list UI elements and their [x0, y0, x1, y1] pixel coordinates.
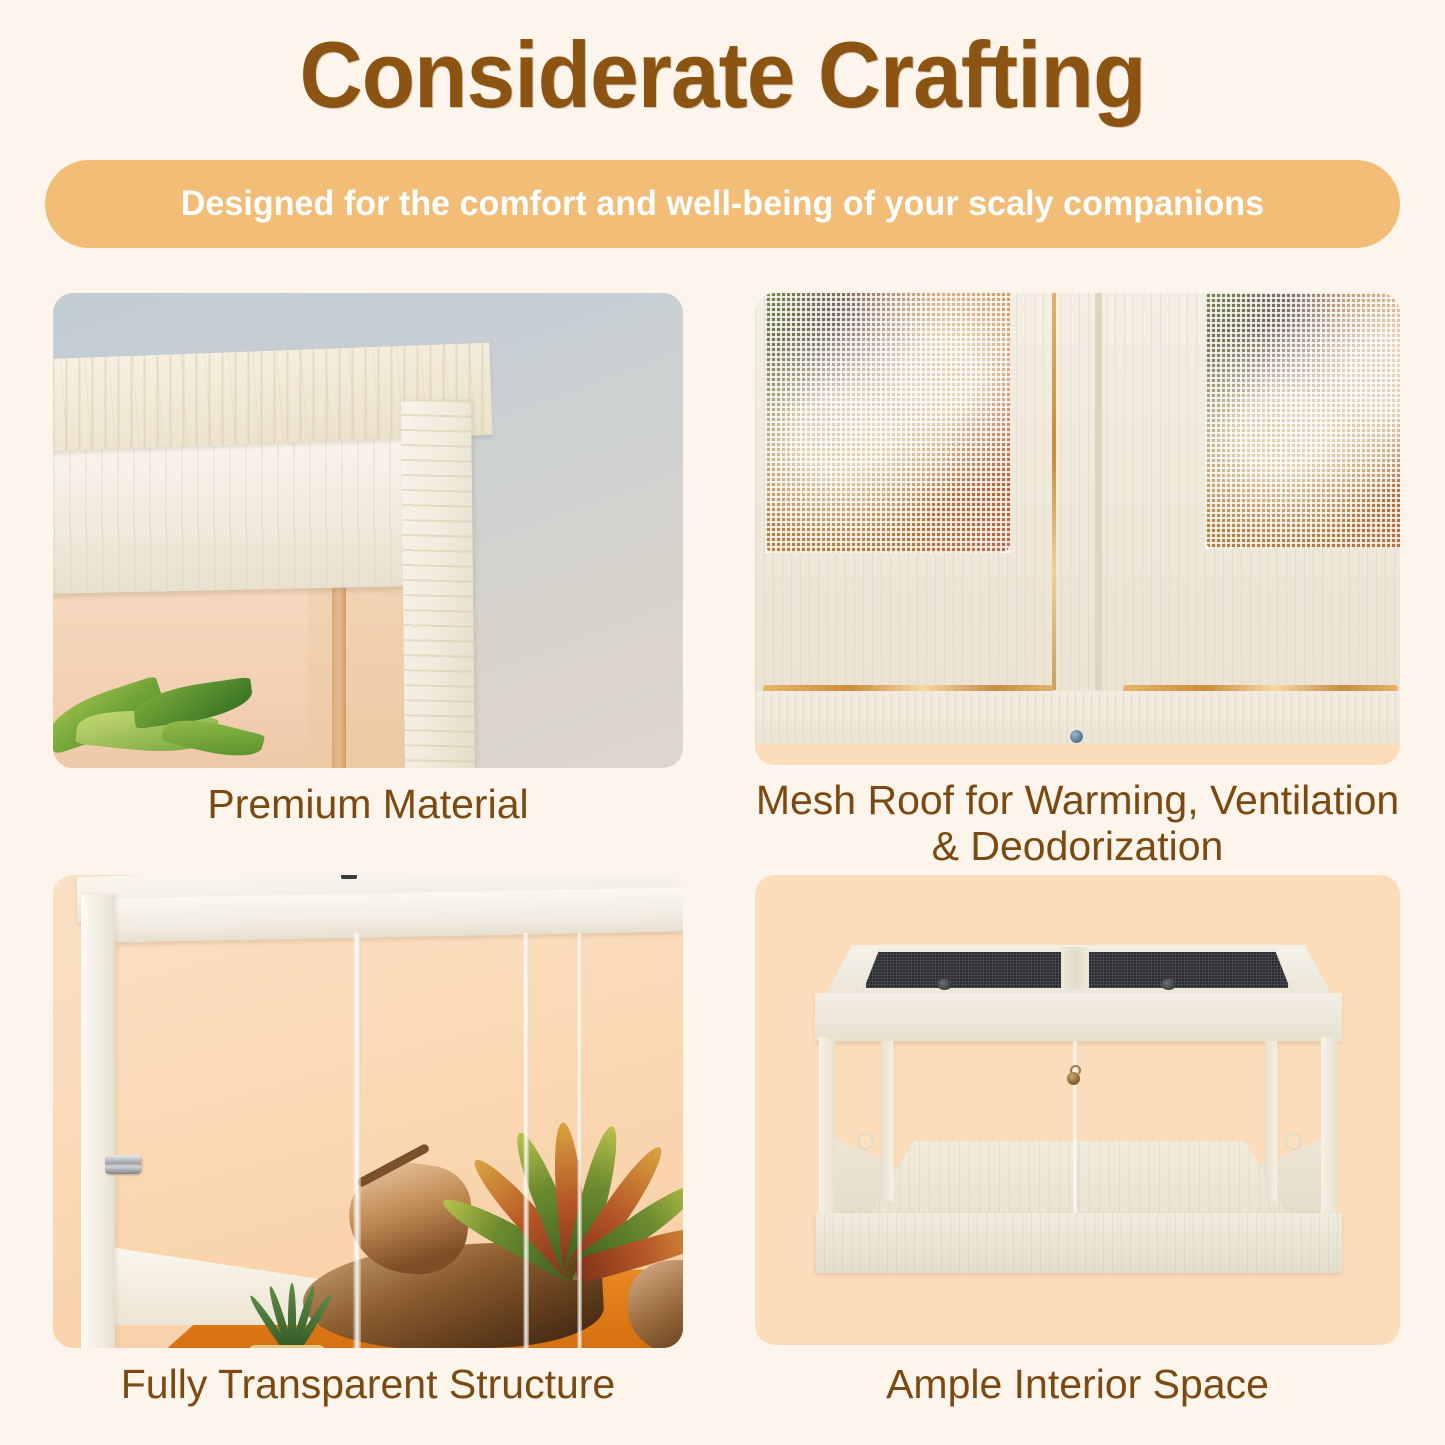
succulent-pot	[249, 1345, 325, 1348]
mesh-roof-panel-left	[863, 949, 1069, 991]
infographic-page: Considerate Crafting Designed for the co…	[0, 0, 1445, 1445]
glass-panel-divider	[577, 933, 582, 1348]
inner-post-left	[881, 1041, 893, 1201]
vent-hole-icon	[857, 1133, 874, 1150]
door-knob	[105, 1155, 141, 1174]
feature-caption-mesh-roof: Mesh Roof for Warming, Ventilation & Deo…	[740, 778, 1415, 870]
feature-image-ample-interior	[755, 875, 1400, 1345]
subtitle-banner: Designed for the comfort and well-being …	[45, 160, 1400, 248]
terrarium-enclosure	[813, 945, 1343, 1275]
roof-grommet-icon	[937, 979, 952, 990]
roof-center-divider	[1095, 293, 1102, 690]
roof-center-seam	[1061, 947, 1089, 989]
corner-post-left	[819, 1037, 835, 1217]
base-panel	[815, 1213, 1342, 1273]
mesh-roof-panel-right	[1085, 949, 1291, 991]
wood-left-stile	[81, 895, 115, 1348]
feature-image-mesh-roof	[755, 293, 1400, 765]
mesh-screen-right	[1205, 293, 1400, 549]
gold-seam-line	[1052, 293, 1056, 690]
screw-icon	[1070, 730, 1083, 743]
roof-latch-tab	[341, 875, 357, 879]
feature-caption-ample-interior: Ample Interior Space	[755, 1362, 1400, 1408]
roof-grommet-icon	[1161, 979, 1176, 990]
inner-post-right	[1265, 1041, 1277, 1201]
wood-front-board	[53, 434, 413, 594]
feature-caption-premium-material: Premium Material	[53, 782, 683, 828]
feature-image-fully-transparent	[53, 875, 683, 1348]
front-top-rail	[815, 993, 1342, 1041]
mesh-screen-left	[765, 293, 1010, 553]
page-title: Considerate Crafting	[51, 26, 1395, 125]
feature-image-premium-material	[53, 293, 683, 768]
large-foliage-plant	[443, 1050, 683, 1280]
succulent-plant	[268, 1267, 316, 1348]
peach-accent-band	[755, 744, 1400, 765]
wood-side-post	[401, 401, 475, 768]
vent-hole-icon	[1285, 1133, 1302, 1150]
corner-post-right	[1321, 1037, 1337, 1217]
subtitle-text: Designed for the comfort and well-being …	[181, 184, 1264, 224]
glass-panel-divider	[523, 933, 529, 1348]
lock-icon	[1066, 1065, 1081, 1085]
glass-panel-divider	[353, 933, 361, 1348]
feature-caption-fully-transparent: Fully Transparent Structure	[53, 1362, 683, 1408]
